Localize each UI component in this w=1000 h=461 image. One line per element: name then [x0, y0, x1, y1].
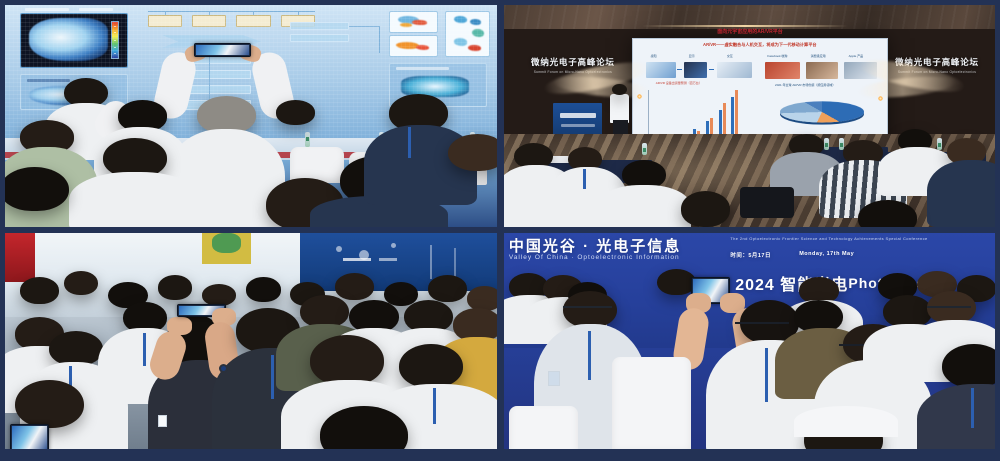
lanyard — [271, 355, 274, 399]
head — [335, 273, 374, 300]
torso — [69, 172, 202, 228]
backpack — [740, 187, 794, 218]
head — [448, 134, 497, 172]
lanyard — [765, 348, 768, 401]
chair — [612, 357, 691, 455]
badge — [158, 415, 167, 427]
head — [858, 200, 917, 227]
panel-exhibition-crowd — [5, 233, 497, 455]
audience-crowd — [504, 233, 996, 455]
smartphone[interactable] — [194, 43, 251, 57]
lanyard — [408, 127, 411, 158]
lanyard — [433, 388, 436, 424]
panel-blue-backdrop-audience: 中国光谷 · 光电子信息 Valley Of China · Optoelect… — [504, 233, 996, 455]
head — [20, 277, 59, 304]
head — [202, 284, 236, 306]
eyeglasses — [735, 322, 789, 324]
head — [428, 275, 467, 302]
head — [197, 96, 256, 134]
head — [399, 344, 463, 388]
torso — [927, 160, 996, 227]
head — [320, 406, 409, 455]
white-cap — [794, 406, 897, 437]
lanyard — [583, 169, 586, 189]
head — [5, 167, 69, 211]
head — [158, 275, 192, 299]
audience-crowd — [5, 233, 497, 455]
lanyard — [143, 333, 146, 366]
panel-led-wall-audience — [5, 5, 497, 227]
head — [310, 335, 384, 386]
head — [276, 100, 315, 124]
head — [49, 331, 103, 367]
hand — [167, 317, 192, 335]
audience-crowd — [5, 5, 497, 227]
head — [563, 291, 617, 329]
head — [246, 277, 280, 301]
head — [64, 271, 98, 295]
head — [15, 380, 84, 429]
eyeglasses — [927, 306, 971, 308]
eyeglasses — [563, 306, 612, 308]
lanyard — [971, 388, 974, 428]
badge — [548, 371, 560, 386]
chair — [509, 406, 578, 455]
head — [681, 191, 730, 227]
panel-forum-stage: 微纳光电子高峰论坛 Summit Forum on Micro-Nano Opt… — [504, 5, 996, 227]
head — [657, 269, 696, 296]
audience-crowd — [504, 5, 996, 227]
photo-collage: 微纳光电子高峰论坛 Summit Forum on Micro-Nano Opt… — [0, 0, 1000, 461]
torso — [597, 185, 690, 227]
lanyard — [588, 331, 591, 380]
head — [467, 286, 497, 310]
head — [942, 344, 996, 388]
smartphone[interactable] — [10, 424, 49, 453]
